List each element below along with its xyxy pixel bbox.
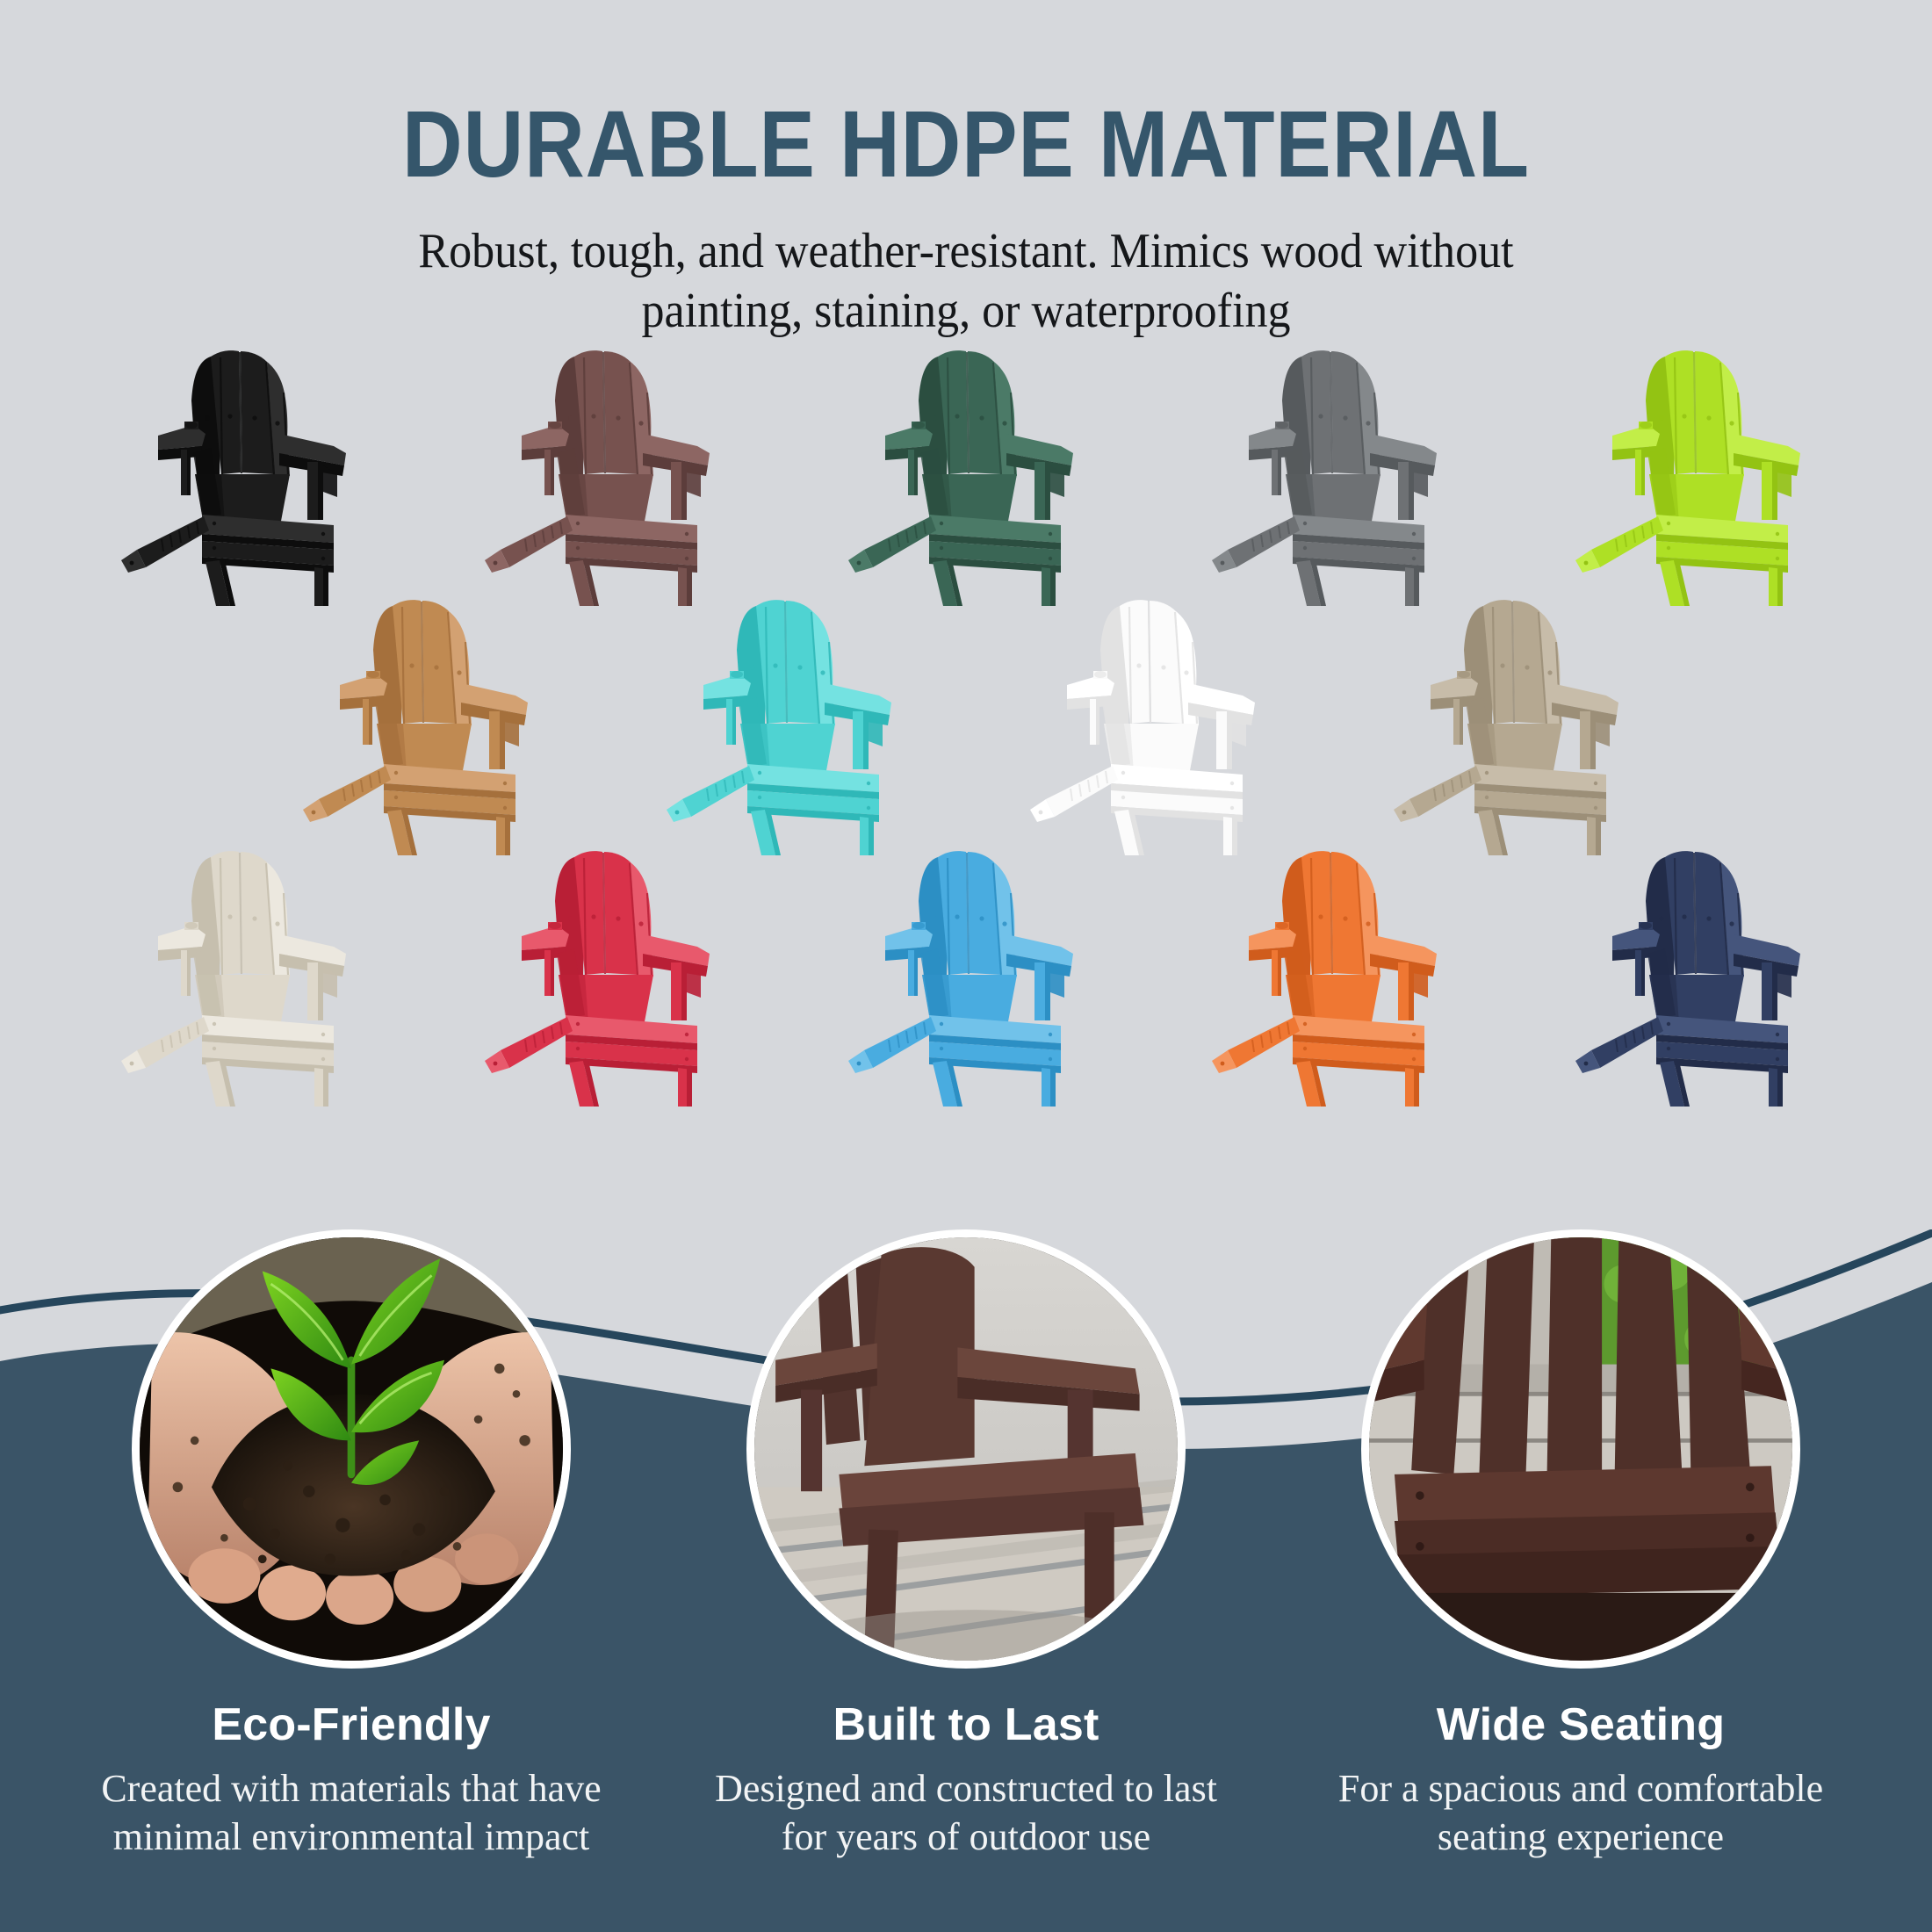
adirondack-chair-icon [107,342,371,606]
chair-swatch-red[interactable] [421,843,784,1107]
feature-image-built-to-last [746,1229,1186,1669]
feature-description: Designed and constructed to last for yea… [703,1765,1229,1861]
infographic-canvas: DURABLE HDPE MATERIAL Robust, tough, and… [0,0,1932,1932]
subtitle-line-2: painting, staining, or waterproofing [329,281,1604,341]
header-block: DURABLE HDPE MATERIAL Robust, tough, and… [0,0,1932,342]
chair-swatch-turquoise[interactable] [602,592,966,855]
seedling-in-hands-icon [140,1237,563,1661]
feature-wide-seating: Wide Seating For a spacious and comforta… [1300,1229,1862,1861]
chair-swatch-white[interactable] [966,592,1330,855]
adirondack-chair-icon [1561,843,1825,1107]
page-title: DURABLE HDPE MATERIAL [116,0,1816,191]
chair-swatch-teak[interactable] [239,592,602,855]
adirondack-chair-icon [1561,342,1825,606]
feature-eco-friendly: Eco-Friendly Created with materials that… [70,1229,632,1861]
chair-swatch-lime-green[interactable] [1511,342,1875,606]
feature-description: Created with materials that have minimal… [88,1765,615,1861]
adirondack-chair-icon [471,843,734,1107]
adirondack-chair-icon [652,592,916,855]
chair-swatch-navy-blue[interactable] [1511,843,1875,1107]
adirondack-chair-icon [1198,342,1461,606]
chair-row-3 [0,843,1932,1107]
feature-image-wide-seating [1361,1229,1800,1669]
adirondack-chair-icon [834,843,1098,1107]
feature-image-eco-friendly [132,1229,571,1669]
chair-swatch-black[interactable] [57,342,421,606]
chair-row-2 [0,592,1932,855]
page-subtitle: Robust, tough, and weather-resistant. Mi… [329,191,1604,342]
feature-title: Eco-Friendly [70,1698,632,1751]
feature-list: Eco-Friendly Created with materials that… [0,1229,1932,1932]
adirondack-chair-icon [1198,843,1461,1107]
chair-color-grid [0,342,1932,1107]
wide-seat-closeup-icon [1369,1237,1792,1661]
feature-title: Built to Last [685,1698,1247,1751]
chair-swatch-brown[interactable] [421,342,784,606]
feature-title: Wide Seating [1300,1698,1862,1751]
feature-built-to-last: Built to Last Designed and constructed t… [685,1229,1247,1861]
adirondack-chair-icon [1016,592,1280,855]
chair-swatch-dark-green[interactable] [784,342,1148,606]
adirondack-chair-icon [471,342,734,606]
chair-swatch-weathered-wood[interactable] [1330,592,1693,855]
chair-swatch-light-blue[interactable] [784,843,1148,1107]
subtitle-line-1: Robust, tough, and weather-resistant. Mi… [329,221,1604,281]
feature-description: For a spacious and comfortable seating e… [1317,1765,1844,1861]
adirondack-chair-icon [107,843,371,1107]
chair-swatch-gray[interactable] [1148,342,1511,606]
adirondack-chair-icon [834,342,1098,606]
chair-swatch-orange[interactable] [1148,843,1511,1107]
adirondack-chair-icon [289,592,552,855]
adirondack-chair-icon [1380,592,1643,855]
chair-row-1 [0,342,1932,606]
patio-chair-photo-icon [754,1237,1178,1661]
chair-swatch-ivory[interactable] [57,843,421,1107]
